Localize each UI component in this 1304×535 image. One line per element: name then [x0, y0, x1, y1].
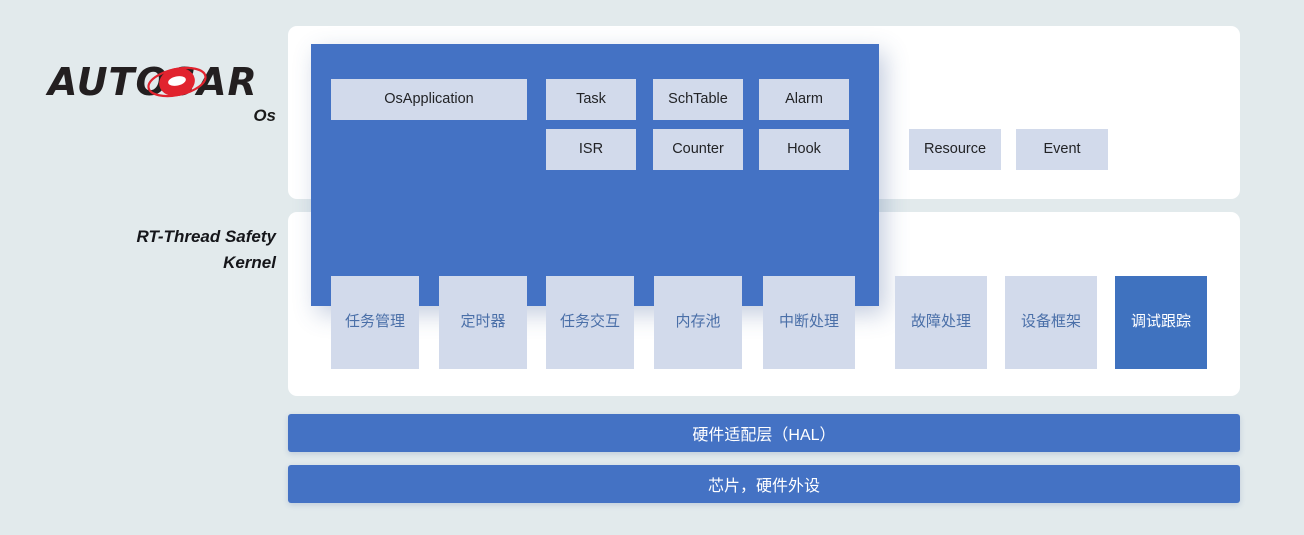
bar-hardware-abstraction-layer[interactable]: 硬件适配层（HAL） [288, 414, 1240, 452]
diagram-canvas: AUTOSAR Os RT-Thread Safety Kernel OsApp… [0, 0, 1304, 535]
kernel-caption-line2: Kernel [60, 250, 276, 276]
autosar-logo: AUTOSAR [48, 63, 298, 101]
box-task[interactable]: Task [546, 79, 636, 120]
box-timer[interactable]: 定时器 [439, 276, 527, 369]
box-schtable[interactable]: SchTable [653, 79, 743, 120]
bar-chip-peripherals[interactable]: 芯片，硬件外设 [288, 465, 1240, 503]
box-fault-handling[interactable]: 故障处理 [895, 276, 987, 369]
box-isr[interactable]: ISR [546, 129, 636, 170]
box-interrupt-handling[interactable]: 中断处理 [763, 276, 855, 369]
box-event[interactable]: Event [1016, 129, 1108, 170]
box-resource[interactable]: Resource [909, 129, 1001, 170]
box-device-framework[interactable]: 设备框架 [1005, 276, 1097, 369]
box-alarm[interactable]: Alarm [759, 79, 849, 120]
box-task-management[interactable]: 任务管理 [331, 276, 419, 369]
kernel-caption-line1: RT-Thread Safety [60, 224, 276, 250]
box-debug-trace[interactable]: 调试跟踪 [1115, 276, 1207, 369]
autosar-os-sublabel: Os [150, 106, 276, 126]
box-task-interaction[interactable]: 任务交互 [546, 276, 634, 369]
autosar-orbit-icon [146, 65, 208, 99]
box-osapplication[interactable]: OsApplication [331, 79, 527, 120]
box-hook[interactable]: Hook [759, 129, 849, 170]
rt-thread-kernel-caption: RT-Thread Safety Kernel [60, 224, 276, 276]
box-memory-pool[interactable]: 内存池 [654, 276, 742, 369]
box-counter[interactable]: Counter [653, 129, 743, 170]
